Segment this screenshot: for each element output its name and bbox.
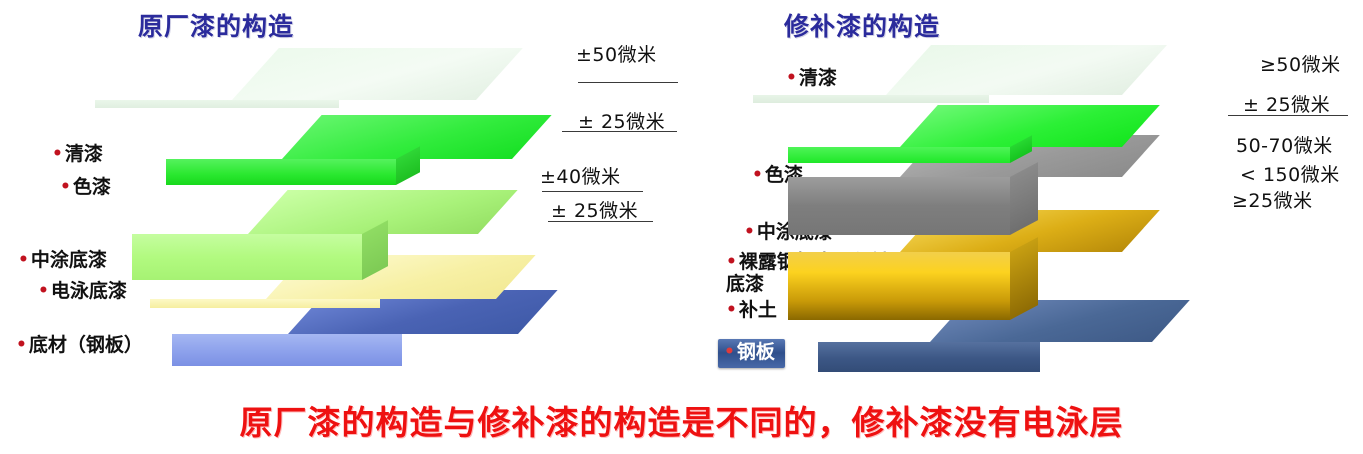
label-oem-substrate: •底材（钢板） bbox=[16, 335, 143, 357]
measure-oem-clearcoat: ±50微米 bbox=[576, 40, 657, 67]
layer-oem-primer-front bbox=[132, 234, 362, 280]
layer-oem-primer bbox=[248, 190, 478, 280]
label-oem-primer: •中涂底漆 bbox=[18, 250, 107, 272]
bullet-icon: • bbox=[724, 342, 735, 362]
layer-oem-clearcoat-top bbox=[232, 48, 523, 100]
label-refin-steel-plate: •钢板 bbox=[718, 339, 785, 368]
layer-oem-ecoat-front bbox=[150, 299, 380, 308]
measure-rule-oem-3 bbox=[542, 191, 643, 192]
measure-rule-refin-1 bbox=[1228, 115, 1348, 116]
measure-refin-clearcoat: ≥50微米 bbox=[1260, 50, 1341, 77]
bullet-icon: • bbox=[726, 300, 737, 320]
measure-refin-filler: < 150微米 bbox=[1240, 160, 1340, 187]
measure-refin-primer: 50-70微米 bbox=[1236, 131, 1333, 158]
measure-rule-oem-1 bbox=[578, 82, 678, 83]
layer-refin-clearcoat-front bbox=[753, 95, 989, 103]
measure-refin-basecoat: ± 25微米 bbox=[1243, 90, 1330, 117]
layer-refin-primer-front bbox=[788, 177, 1010, 235]
layer-oem-clearcoat bbox=[232, 48, 476, 110]
measure-oem-basecoat: ± 25微米 bbox=[578, 107, 665, 134]
bullet-icon: • bbox=[52, 144, 63, 164]
measure-oem-ecoat: ± 25微米 bbox=[551, 196, 638, 223]
layer-oem-basecoat bbox=[282, 115, 512, 185]
measure-rule-oem-4 bbox=[548, 221, 653, 222]
bullet-icon: • bbox=[786, 68, 797, 88]
label-refin-filler: •补土 bbox=[726, 300, 777, 322]
bullet-icon: • bbox=[60, 177, 71, 197]
bottom-caption: 原厂漆的构造与修补漆的构造是不同的，修补漆没有电泳层 bbox=[0, 396, 1363, 444]
layer-oem-clearcoat-front bbox=[95, 100, 339, 108]
layer-refin-basecoat bbox=[900, 105, 1122, 167]
measure-oem-primer: ±40微米 bbox=[540, 162, 621, 189]
bullet-icon: • bbox=[18, 250, 29, 270]
layer-refin-filler-side bbox=[1010, 237, 1038, 320]
layer-refin-filler-front bbox=[788, 252, 1010, 320]
measure-refin-etch-primer: ≥25微米 bbox=[1232, 186, 1313, 213]
label-oem-clearcoat: •清漆 bbox=[52, 144, 103, 166]
bullet-icon: • bbox=[38, 281, 49, 301]
label-refin-clearcoat: •清漆 bbox=[786, 68, 837, 90]
panel-title-oem: 原厂漆的构造 bbox=[138, 7, 294, 43]
panel-title-refinish: 修补漆的构造 bbox=[784, 7, 940, 43]
bullet-icon: • bbox=[752, 165, 763, 185]
layer-refin-basecoat-front bbox=[788, 147, 1010, 163]
label-oem-ecoat: •电泳底漆 bbox=[38, 281, 127, 303]
bullet-icon: • bbox=[726, 252, 737, 272]
layer-refin-clearcoat-top bbox=[886, 45, 1167, 95]
label-oem-basecoat: •色漆 bbox=[60, 177, 111, 199]
measure-rule-oem-2 bbox=[562, 131, 677, 132]
bullet-icon: • bbox=[744, 222, 755, 242]
layer-oem-basecoat-front bbox=[166, 159, 396, 185]
layer-refin-clearcoat bbox=[886, 45, 1122, 103]
layer-oem-steel-front bbox=[172, 334, 402, 366]
bullet-icon: • bbox=[16, 335, 27, 355]
diagram-canvas: 原厂漆的构造 •清漆 •色漆 •中涂底漆 •电泳底漆 bbox=[0, 0, 1363, 454]
layer-refin-steel-front bbox=[818, 342, 1040, 372]
